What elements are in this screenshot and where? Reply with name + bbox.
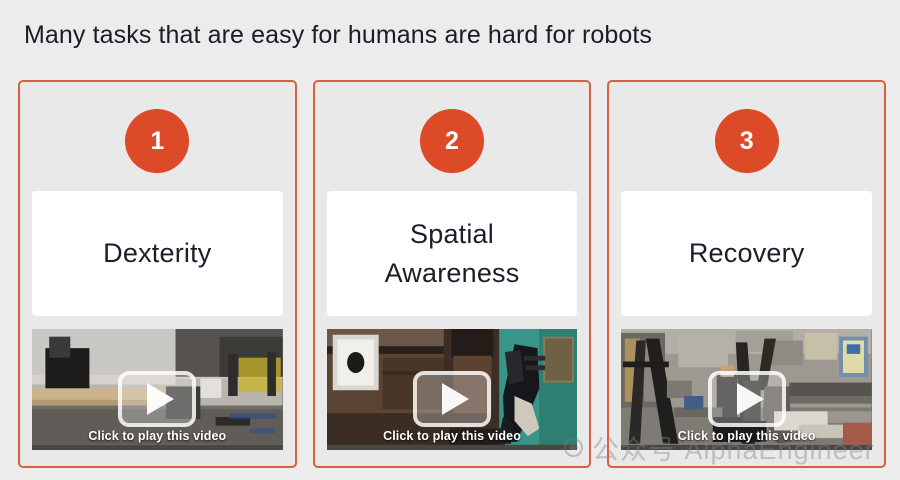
- play-caption: Click to play this video: [621, 429, 872, 443]
- card-recovery[interactable]: 3 Recovery: [607, 80, 886, 468]
- card-label: Dexterity: [97, 234, 217, 272]
- card-badge-number: 2: [420, 109, 484, 173]
- card-badge-number: 3: [715, 109, 779, 173]
- card-badge-number: 1: [125, 109, 189, 173]
- card-label-panel: Dexterity: [32, 191, 283, 316]
- video-thumbnail[interactable]: Click to play this video: [32, 329, 283, 450]
- card-label-line-2: Awareness: [385, 258, 520, 288]
- card-spatial-awareness[interactable]: 2 Spatial Awareness: [313, 80, 592, 468]
- card-label: Spatial Awareness: [379, 215, 526, 292]
- card-label: Recovery: [683, 234, 811, 272]
- play-caption: Click to play this video: [32, 429, 283, 443]
- card-label-panel: Spatial Awareness: [327, 191, 578, 316]
- play-triangle-icon: [147, 383, 174, 415]
- play-button[interactable]: [118, 371, 196, 427]
- play-caption: Click to play this video: [327, 429, 578, 443]
- card-label-panel: Recovery: [621, 191, 872, 316]
- play-button[interactable]: [708, 371, 786, 427]
- play-triangle-icon: [737, 383, 764, 415]
- card-label-line-1: Spatial: [410, 219, 494, 249]
- card-dexterity[interactable]: 1 Dexterity: [18, 80, 297, 468]
- cards-row: 1 Dexterity: [18, 80, 886, 468]
- play-triangle-icon: [442, 383, 469, 415]
- page-title: Many tasks that are easy for humans are …: [24, 21, 652, 50]
- play-button[interactable]: [413, 371, 491, 427]
- video-thumbnail[interactable]: Click to play this video: [621, 329, 872, 450]
- video-thumbnail[interactable]: Click to play this video: [327, 329, 578, 450]
